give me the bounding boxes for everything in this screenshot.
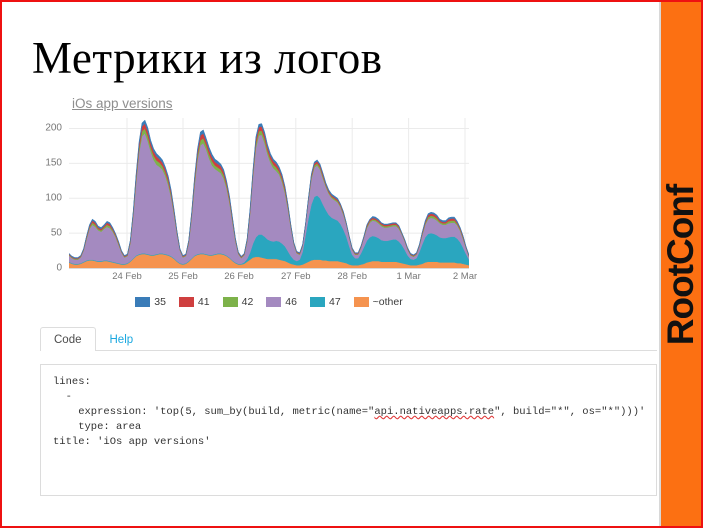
y-tick-label: 50 [51, 228, 62, 239]
legend-label: 42 [242, 296, 254, 308]
x-tick-label: 28 Feb [337, 271, 367, 282]
y-tick-label: 0 [56, 263, 62, 274]
legend-label: 35 [154, 296, 166, 308]
legend-swatch-icon [179, 297, 194, 307]
x-axis-line [69, 268, 469, 269]
slide-canvas: Метрики из логов iOs app versions 050100… [0, 0, 703, 528]
legend-item-~other[interactable]: ~other [354, 296, 403, 308]
code-panel[interactable]: lines: - expression: 'top(5, sum_by(buil… [40, 364, 657, 496]
legend-label: 41 [198, 296, 210, 308]
x-tick-label: 2 Mar [453, 271, 477, 282]
legend-swatch-icon [354, 297, 369, 307]
stacked-area-plot [69, 118, 469, 268]
y-tick-label: 150 [45, 158, 62, 169]
chart-plot-wrapper: 050100150200 24 Feb25 Feb26 Feb27 Feb28 … [24, 118, 658, 278]
x-tick-label: 27 Feb [281, 271, 311, 282]
misspelled-token: api.nativeapps.rate [374, 406, 494, 418]
page-title: Метрики из логов [32, 32, 383, 84]
code-text: lines: - expression: 'top(5, sum_by(buil… [53, 375, 644, 450]
legend-label: 46 [285, 296, 297, 308]
legend-label: 47 [329, 296, 341, 308]
x-tick-label: 25 Feb [168, 271, 198, 282]
legend-label: ~other [373, 296, 403, 308]
chart-svg [69, 118, 469, 268]
legend-swatch-icon [135, 297, 150, 307]
y-tick-label: 100 [45, 193, 62, 204]
brand-label: RootConf [660, 125, 702, 405]
tab-bar: CodeHelp [40, 326, 657, 351]
tab-code[interactable]: Code [40, 327, 96, 351]
chart-card: iOs app versions 050100150200 24 Feb25 F… [24, 94, 658, 322]
x-tick-label: 24 Feb [112, 271, 142, 282]
brand-band: RootConf [659, 2, 703, 528]
legend-swatch-icon [223, 297, 238, 307]
legend-item-35[interactable]: 35 [135, 296, 166, 308]
y-tick-label: 200 [45, 123, 62, 134]
legend-item-46[interactable]: 46 [266, 296, 297, 308]
legend-swatch-icon [266, 297, 281, 307]
chart-legend: 3541424647~other [24, 296, 514, 308]
x-tick-label: 1 Mar [396, 271, 420, 282]
x-tick-label: 26 Feb [224, 271, 254, 282]
legend-item-47[interactable]: 47 [310, 296, 341, 308]
legend-swatch-icon [310, 297, 325, 307]
legend-item-41[interactable]: 41 [179, 296, 210, 308]
legend-item-42[interactable]: 42 [223, 296, 254, 308]
tab-help[interactable]: Help [96, 327, 148, 351]
chart-title: iOs app versions [72, 96, 173, 111]
